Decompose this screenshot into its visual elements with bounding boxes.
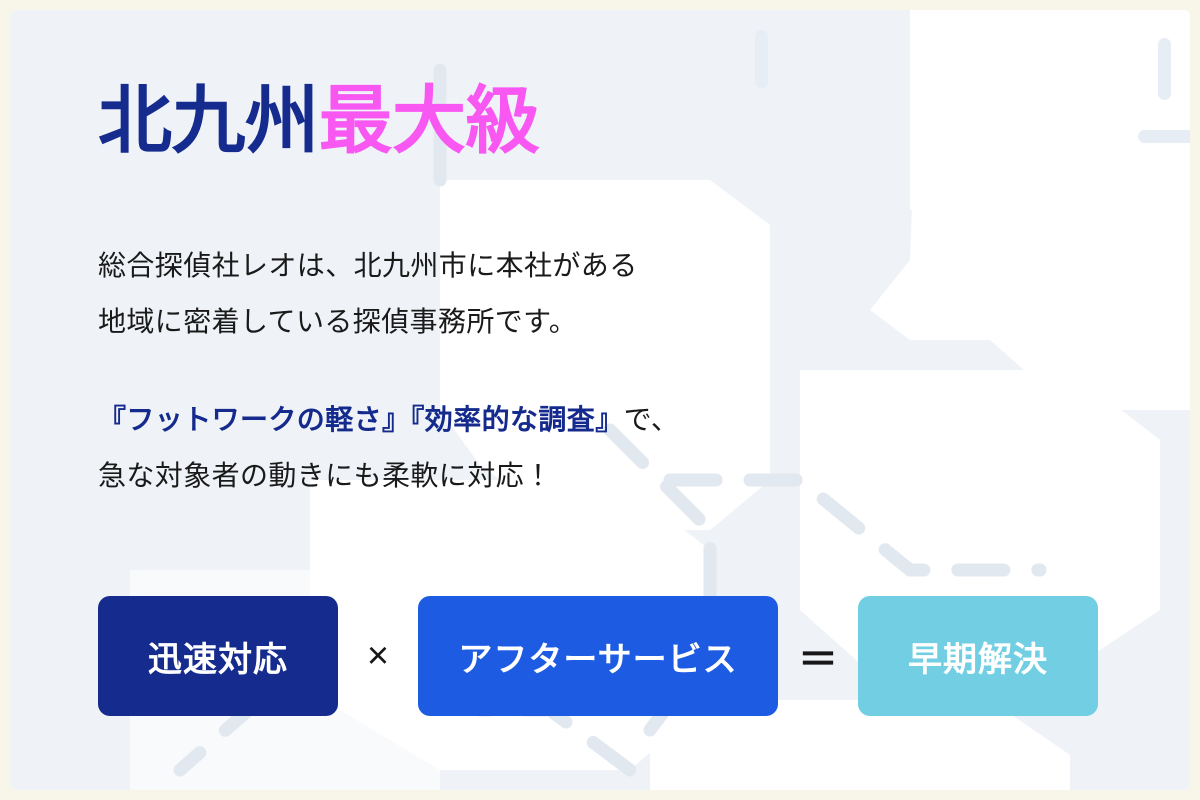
- headline-region: 北九州: [98, 79, 319, 162]
- strength-line-2: 急な対象者の動きにも柔軟に対応！: [98, 460, 552, 491]
- multiply-operator-icon: ×: [338, 635, 418, 678]
- badge-result: 早期解決: [858, 596, 1098, 716]
- intro-line-2: 地域に密着している探偵事務所です。: [98, 306, 577, 337]
- headline-superlative: 最大級: [319, 79, 540, 162]
- badge-aftercare: アフターサービス: [418, 596, 778, 716]
- intro-paragraph: 総合探偵社レオは、北九州市に本社がある 地域に密着している探偵事務所です。: [98, 238, 638, 350]
- hero-content: 北九州最大級 総合探偵社レオは、北九州市に本社がある 地域に密着している探偵事務…: [88, 10, 1118, 790]
- strength-emphasis-efficiency: 『効率的な調査』: [410, 404, 623, 435]
- strength-tail: で、: [624, 404, 680, 435]
- page-title: 北九州最大級: [98, 84, 539, 158]
- strength-paragraph: 『フットワークの軽さ』『効率的な調査』で、 急な対象者の動きにも柔軟に対応！: [98, 392, 679, 504]
- value-formula: 迅速対応 × アフターサービス ＝ 早期解決: [98, 596, 1098, 716]
- equals-operator-icon: ＝: [778, 627, 858, 685]
- strength-emphasis-footwork: 『フットワークの軽さ』: [98, 404, 410, 435]
- intro-line-1: 総合探偵社レオは、北九州市に本社がある: [98, 250, 638, 281]
- badge-speed: 迅速対応: [98, 596, 338, 716]
- hero-banner: 北九州最大級 総合探偵社レオは、北九州市に本社がある 地域に密着している探偵事務…: [10, 10, 1190, 790]
